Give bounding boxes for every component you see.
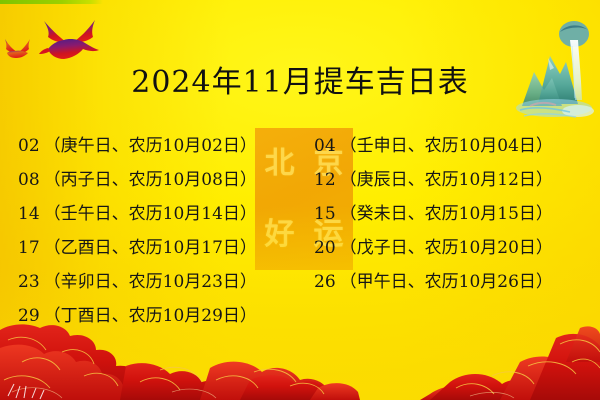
day-number: 29 <box>18 306 40 326</box>
table-cell-left: 02（庚午日、农历10月02日） <box>0 131 300 156</box>
table-cell-left: 08（丙子日、农历10月08日） <box>0 165 300 190</box>
day-detail: （癸未日、农历10月15日） <box>340 204 553 224</box>
day-detail: （丙子日、农历10月08日） <box>44 170 257 190</box>
day-detail: （丁酉日、农历10月29日） <box>44 306 257 326</box>
table-cell-left: 17（乙酉日、农历10月17日） <box>0 233 300 258</box>
poster-canvas: 北 京 好 运 2024年11月提车吉日表 02（庚午日、农历10月02日） 0… <box>0 0 600 400</box>
table-cell-right: 12（庚辰日、农历10月12日） <box>300 165 600 190</box>
day-number: 04 <box>314 136 336 156</box>
table-cell-right: 15（癸未日、农历10月15日） <box>300 199 600 224</box>
day-detail: （甲午日、农历10月26日） <box>340 272 553 292</box>
table-cell-left: 14（壬午日、农历10月14日） <box>0 199 300 224</box>
table-row: 02（庚午日、农历10月02日） 04（壬申日、农历10月04日） <box>0 126 600 160</box>
table-row: 14（壬午日、农历10月14日） 15（癸未日、农历10月15日） <box>0 194 600 228</box>
table-cell-right: 04（壬申日、农历10月04日） <box>300 131 600 156</box>
day-number: 12 <box>314 170 336 190</box>
day-detail: （壬午日、农历10月14日） <box>44 204 257 224</box>
day-detail: （壬申日、农历10月04日） <box>340 136 553 156</box>
day-number: 26 <box>314 272 336 292</box>
table-cell-left: 29（丁酉日、农历10月29日） <box>0 301 300 326</box>
table-cell-right: 26（甲午日、农历10月26日） <box>300 267 600 292</box>
day-number: 15 <box>314 204 336 224</box>
table-cell-left: 23（辛卯日、农历10月23日） <box>0 267 300 292</box>
page-title: 2024年11月提车吉日表 <box>0 68 600 98</box>
table-row: 08（丙子日、农历10月08日） 12（庚辰日、农历10月12日） <box>0 160 600 194</box>
day-number: 17 <box>18 238 40 258</box>
table-row: 17（乙酉日、农历10月17日） 20（戊子日、农历10月20日） <box>0 228 600 262</box>
day-detail: （乙酉日、农历10月17日） <box>44 238 257 258</box>
lucky-days-table: 02（庚午日、农历10月02日） 04（壬申日、农历10月04日） 08（丙子日… <box>0 126 600 330</box>
peony-border-icon <box>0 322 600 400</box>
table-row: 23（辛卯日、农历10月23日） 26（甲午日、农历10月26日） <box>0 262 600 296</box>
table-cell-right: 20（戊子日、农历10月20日） <box>300 233 600 258</box>
day-detail: （辛卯日、农历10月23日） <box>44 272 257 292</box>
day-detail: （庚辰日、农历10月12日） <box>340 170 553 190</box>
bird-small-icon <box>3 38 33 62</box>
day-detail: （戊子日、农历10月20日） <box>340 238 553 258</box>
top-green-strip <box>0 0 103 4</box>
day-detail: （庚午日、农历10月02日） <box>44 136 257 156</box>
bird-large-icon <box>38 18 102 64</box>
day-number: 02 <box>18 136 40 156</box>
day-number: 23 <box>18 272 40 292</box>
day-number: 20 <box>314 238 336 258</box>
table-row: 29（丁酉日、农历10月29日） <box>0 296 600 330</box>
day-number: 08 <box>18 170 40 190</box>
day-number: 14 <box>18 204 40 224</box>
